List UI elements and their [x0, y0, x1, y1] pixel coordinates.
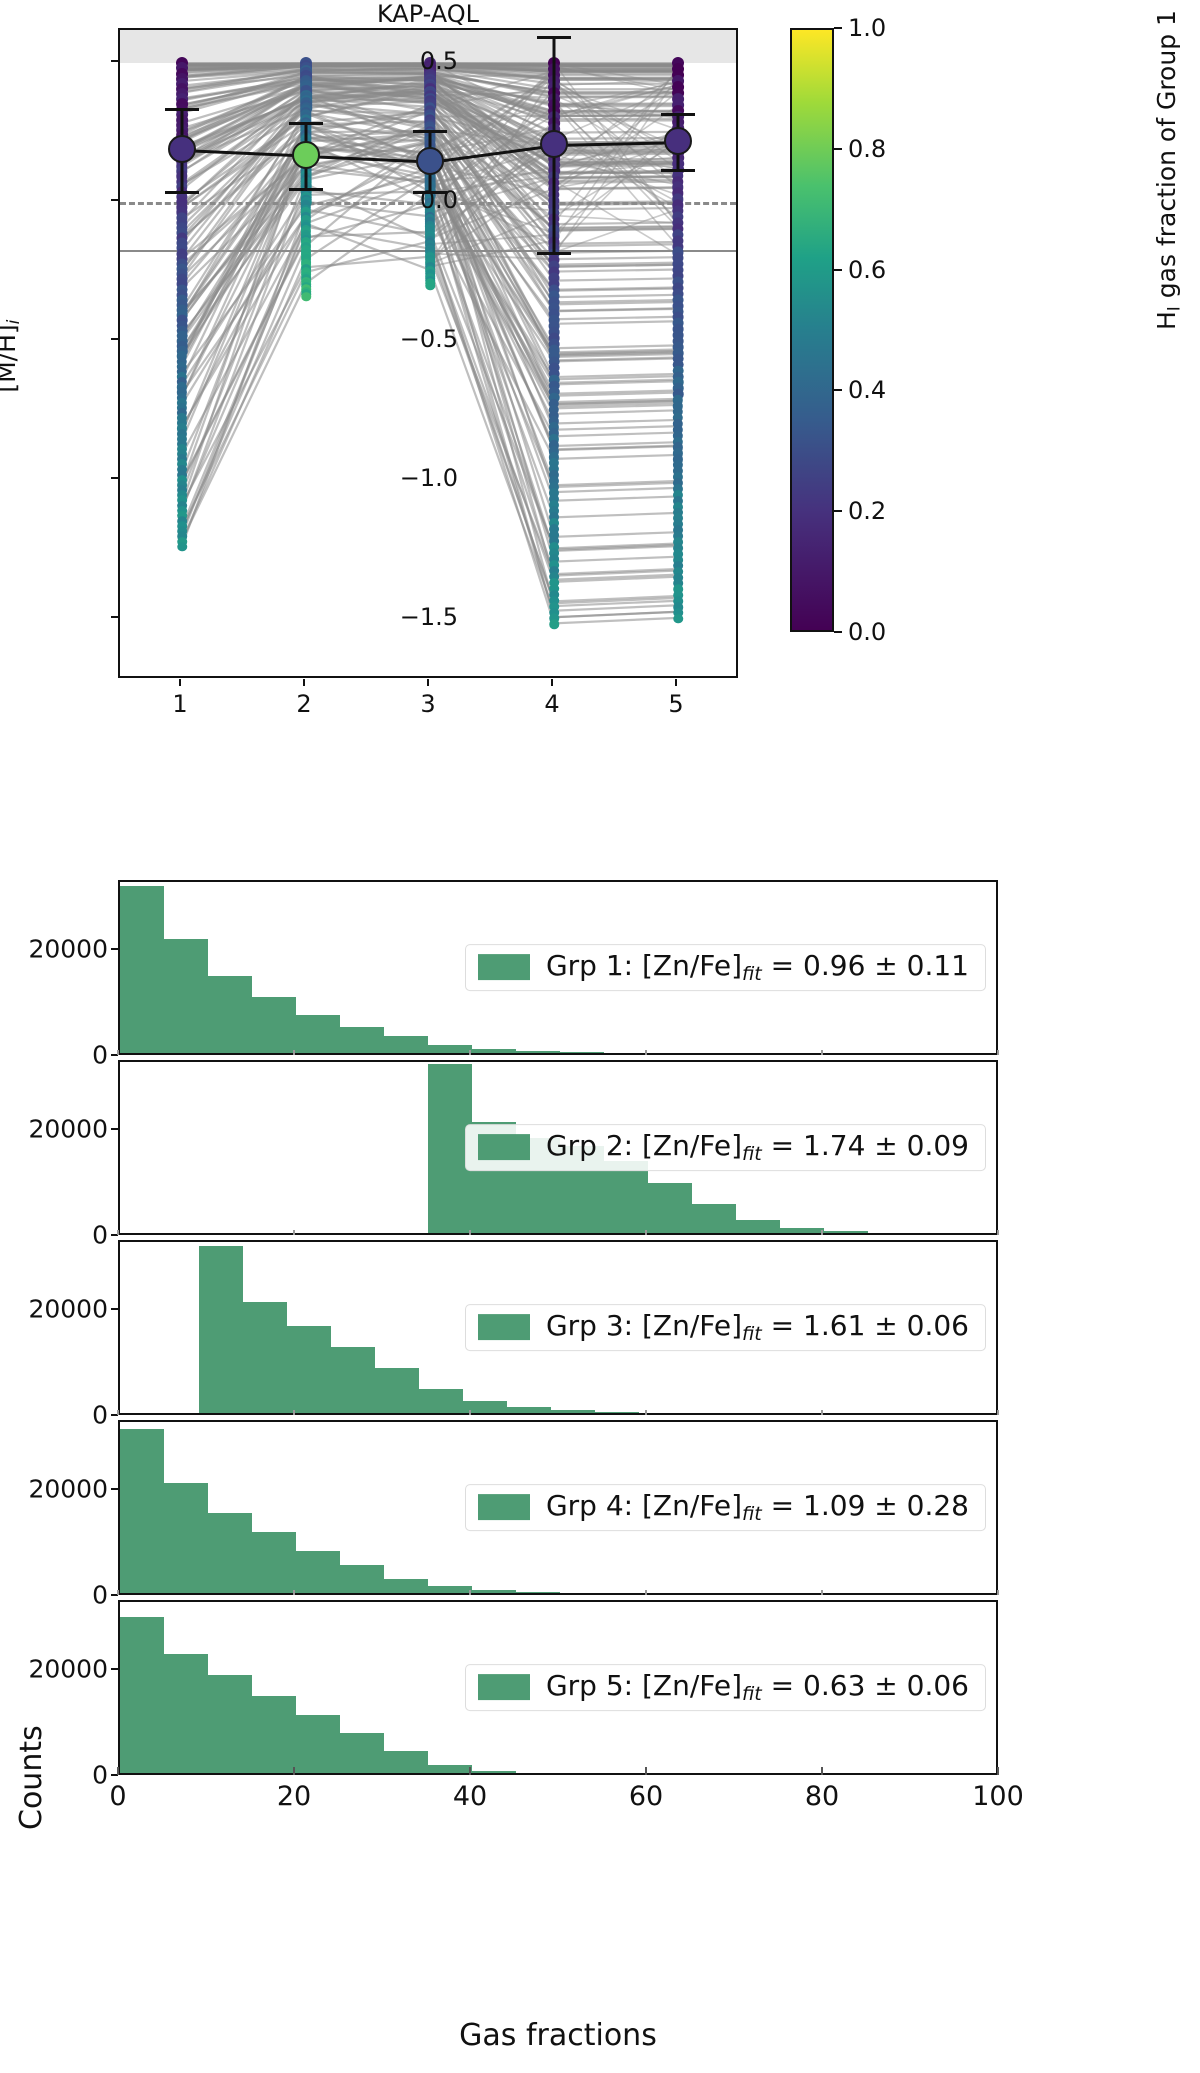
histogram-x-tick-mark — [293, 1410, 295, 1415]
legend-label-text: Grp 4: [Zn/Fe]fit = 1.09 ± 0.28 — [546, 1492, 969, 1524]
histogram-bar — [516, 1592, 560, 1593]
histogram-bar — [384, 1751, 428, 1773]
x-tick-label: 5 — [668, 690, 683, 718]
histogram-x-tick-mark — [645, 1590, 647, 1595]
histogram-bar — [419, 1389, 463, 1413]
histogram-x-tick-mark — [821, 1590, 823, 1595]
histogram-bar — [780, 1228, 824, 1233]
histogram-bar — [164, 1483, 208, 1593]
mean-trend-line — [306, 155, 430, 164]
error-cap-lower — [661, 169, 695, 172]
x-axis-label-gas-fractions: Gas fractions — [118, 2018, 998, 2053]
histogram-bar — [384, 1036, 428, 1053]
histogram-x-tick-mark — [293, 1590, 295, 1595]
histogram-x-tick-mark — [117, 1050, 119, 1055]
histogram-bar — [296, 1015, 340, 1053]
legend-subscript: fit — [742, 1142, 762, 1164]
colorbar-label: HI gas fraction of Group 1 — [1152, 10, 1184, 330]
colorbar-tick-mark — [834, 510, 842, 512]
histogram-y-tick-label: 0 — [92, 1761, 108, 1790]
histogram-bar — [252, 997, 296, 1053]
y-tick-mark — [111, 199, 118, 201]
histogram-bar — [208, 1513, 252, 1593]
histogram-y-tick-label: 20000 — [28, 1294, 108, 1323]
histogram-y-tick-label: 0 — [92, 1041, 108, 1070]
legend-prefix: Grp 2: [Zn/Fe] — [546, 1129, 742, 1162]
mean-trend-line — [182, 149, 306, 158]
histogram-bar — [208, 976, 252, 1053]
histogram-legend-4: Grp 4: [Zn/Fe]fit = 1.09 ± 0.28 — [465, 1484, 986, 1532]
histogram-bar — [120, 1429, 164, 1593]
histogram-x-tick-mark — [997, 1050, 999, 1055]
histogram-legend-1: Grp 1: [Zn/Fe]fit = 0.96 ± 0.11 — [465, 944, 986, 992]
legend-label-text: Grp 3: [Zn/Fe]fit = 1.61 ± 0.06 — [546, 1312, 969, 1344]
histogram-x-tick-mark — [821, 1230, 823, 1235]
legend-color-swatch — [478, 1494, 530, 1520]
histogram-x-tick-mark — [469, 1410, 471, 1415]
ylabel-subscript: i — [4, 320, 24, 325]
y-axis-label-metallicity: [M/H]i — [0, 320, 24, 393]
histogram-x-tick-mark — [293, 1050, 295, 1055]
histogram-y-tick-label: 20000 — [28, 1654, 108, 1683]
histogram-bar — [516, 1051, 560, 1053]
x-tick-mark — [303, 679, 305, 686]
colorbar-gradient — [790, 28, 834, 632]
y-axis-label-counts: Counts — [14, 1725, 49, 1830]
legend-subscript: fit — [742, 962, 762, 984]
histogram-x-tick-label: 60 — [629, 1781, 663, 1812]
histogram-bar — [296, 1715, 340, 1773]
histogram-bar — [340, 1027, 384, 1054]
histogram-bar — [252, 1532, 296, 1593]
histogram-x-tick-mark — [821, 1767, 823, 1775]
colorbar-tick-label: 0.6 — [848, 256, 886, 284]
x-tick-label: 3 — [420, 690, 435, 718]
colorbar-tick-mark — [834, 148, 842, 150]
histogram-panel-3: 020000Grp 3: [Zn/Fe]fit = 1.61 ± 0.06 — [118, 1240, 998, 1415]
histogram-bar — [340, 1733, 384, 1773]
y-tick-label: −1.0 — [400, 464, 458, 492]
group-mean-marker — [416, 147, 444, 175]
histogram-y-tick-mark — [111, 1128, 118, 1130]
histogram-panel-2: 020000Grp 2: [Zn/Fe]fit = 1.74 ± 0.09 — [118, 1060, 998, 1235]
y-tick-mark — [111, 338, 118, 340]
histogram-bar — [736, 1220, 780, 1233]
histogram-x-tick-mark — [997, 1767, 999, 1775]
histogram-panel-4: 020000Grp 4: [Zn/Fe]fit = 1.09 ± 0.28 — [118, 1420, 998, 1595]
histogram-y-tick-label: 0 — [92, 1221, 108, 1250]
legend-prefix: Grp 3: [Zn/Fe] — [546, 1309, 742, 1342]
histogram-bar — [551, 1410, 595, 1413]
histogram-x-tick-label: 0 — [109, 1781, 126, 1812]
histogram-x-tick-mark — [293, 1767, 295, 1775]
x-tick-label: 2 — [296, 690, 311, 718]
histogram-bar — [604, 1161, 648, 1233]
histogram-bar — [252, 1696, 296, 1773]
histogram-x-tick-mark — [997, 1590, 999, 1595]
histogram-y-tick-mark — [111, 948, 118, 950]
histogram-bar — [164, 1654, 208, 1773]
error-cap-upper — [289, 122, 323, 125]
histogram-legend-2: Grp 2: [Zn/Fe]fit = 1.74 ± 0.09 — [465, 1124, 986, 1172]
legend-label-text: Grp 5: [Zn/Fe]fit = 0.63 ± 0.06 — [546, 1672, 969, 1704]
x-tick-mark — [427, 679, 429, 686]
data-point — [177, 542, 187, 552]
histogram-x-tick-mark — [645, 1767, 647, 1775]
error-cap-lower — [165, 191, 199, 194]
group-mean-marker — [292, 141, 320, 169]
histogram-x-tick-mark — [117, 1230, 119, 1235]
x-tick-mark — [551, 679, 553, 686]
histogram-bar — [595, 1412, 639, 1413]
histogram-bar — [824, 1231, 868, 1233]
histogram-x-tick-mark — [821, 1410, 823, 1415]
histogram-y-tick-label: 20000 — [28, 934, 108, 963]
y-tick-label: −0.5 — [400, 325, 458, 353]
data-point — [549, 620, 559, 630]
y-tick-label: 0.5 — [420, 47, 458, 75]
histogram-y-tick-label: 0 — [92, 1401, 108, 1430]
y-tick-mark — [111, 60, 118, 62]
histogram-y-tick-label: 20000 — [28, 1114, 108, 1143]
histogram-x-tick-mark — [997, 1410, 999, 1415]
legend-subscript: fit — [742, 1322, 762, 1344]
colorbar-label-rest: gas fraction of Group 1 — [1152, 10, 1181, 306]
colorbar-tick-mark — [834, 27, 842, 29]
histogram-x-tick-mark — [469, 1050, 471, 1055]
histogram-bar — [208, 1675, 252, 1773]
y-tick-label: −1.5 — [400, 603, 458, 631]
colorbar-tick-label: 0.2 — [848, 497, 886, 525]
colorbar-tick-mark — [834, 269, 842, 271]
histogram-bar — [472, 1590, 516, 1593]
y-tick-mark — [111, 616, 118, 618]
histogram-x-tick-mark — [645, 1410, 647, 1415]
legend-color-swatch — [478, 954, 530, 980]
histogram-bar — [560, 1052, 604, 1053]
colorbar-tick-label: 0.8 — [848, 135, 886, 163]
error-cap-upper — [661, 113, 695, 116]
legend-value: = 1.61 ± 0.06 — [762, 1309, 969, 1342]
histogram-bar — [472, 1771, 516, 1773]
legend-label-text: Grp 2: [Zn/Fe]fit = 1.74 ± 0.09 — [546, 1132, 969, 1164]
legend-subscript: fit — [742, 1682, 762, 1704]
ylabel-text: [M/H] — [0, 324, 21, 392]
error-cap-lower — [537, 252, 571, 255]
histogram-x-tick-label: 20 — [277, 1781, 311, 1812]
histogram-bar — [428, 1765, 472, 1773]
legend-value: = 1.09 ± 0.28 — [762, 1489, 969, 1522]
legend-subscript: fit — [742, 1502, 762, 1524]
histogram-x-tick-label: 100 — [972, 1781, 1024, 1812]
histogram-y-tick-mark — [111, 1308, 118, 1310]
histogram-x-tick-mark — [117, 1767, 119, 1775]
histogram-bar — [287, 1326, 331, 1414]
legend-prefix: Grp 1: [Zn/Fe] — [546, 949, 742, 982]
histogram-bar — [120, 1617, 164, 1773]
mean-trend-line — [430, 144, 554, 164]
histogram-x-tick-mark — [997, 1230, 999, 1235]
histogram-bar — [243, 1302, 287, 1413]
legend-color-swatch — [478, 1674, 530, 1700]
histogram-bar — [340, 1565, 384, 1593]
histogram-y-tick-mark — [111, 1488, 118, 1490]
histogram-x-tick-mark — [117, 1410, 119, 1415]
histogram-panel-1: 020000Grp 1: [Zn/Fe]fit = 0.96 ± 0.11 — [118, 880, 998, 1055]
histogram-bar — [296, 1551, 340, 1593]
legend-value: = 1.74 ± 0.09 — [762, 1129, 969, 1162]
y-tick-mark — [111, 477, 118, 479]
colorbar-label-subscript: I — [1164, 306, 1184, 311]
error-cap-upper — [413, 130, 447, 133]
colorbar-tick-label: 0.0 — [848, 618, 886, 646]
colorbar-tick-label: 0.4 — [848, 376, 886, 404]
error-cap-lower — [289, 188, 323, 191]
group-mean-marker — [168, 135, 196, 163]
data-point — [301, 292, 311, 302]
colorbar-label-prefix: H — [1152, 311, 1181, 330]
histogram-x-tick-mark — [469, 1590, 471, 1595]
histogram-x-tick-label: 40 — [453, 1781, 487, 1812]
histogram-x-tick-mark — [117, 1590, 119, 1595]
histogram-legend-5: Grp 5: [Zn/Fe]fit = 0.63 ± 0.06 — [465, 1664, 986, 1712]
colorbar: 0.00.20.40.60.81.0 — [790, 28, 834, 632]
histogram-y-tick-mark — [111, 1668, 118, 1670]
histogram-y-tick-label: 20000 — [28, 1474, 108, 1503]
histogram-x-tick-mark — [645, 1050, 647, 1055]
histogram-bar — [384, 1579, 428, 1593]
legend-value: = 0.96 ± 0.11 — [762, 949, 969, 982]
histogram-x-tick-label: 80 — [805, 1781, 839, 1812]
histogram-y-tick-label: 0 — [92, 1581, 108, 1610]
group-mean-marker — [540, 130, 568, 158]
histogram-bar — [428, 1045, 472, 1053]
x-tick-mark — [179, 679, 181, 686]
colorbar-tick-label: 1.0 — [848, 14, 886, 42]
histogram-bar — [331, 1347, 375, 1413]
legend-color-swatch — [478, 1134, 530, 1160]
y-tick-label: 0.0 — [420, 186, 458, 214]
legend-label-text: Grp 1: [Zn/Fe]fit = 0.96 ± 0.11 — [546, 952, 969, 984]
histogram-x-tick-mark — [293, 1230, 295, 1235]
histogram-x-tick-mark — [469, 1767, 471, 1775]
histogram-bar — [692, 1204, 736, 1233]
histogram-bar — [648, 1183, 692, 1233]
histogram-bar — [120, 886, 164, 1053]
data-point — [673, 614, 683, 624]
histogram-x-tick-mark — [645, 1230, 647, 1235]
page-title: KAP-AQL — [118, 0, 738, 28]
x-tick-mark — [675, 679, 677, 686]
data-point — [425, 281, 435, 291]
group-mean-marker — [664, 127, 692, 155]
colorbar-tick-mark — [834, 389, 842, 391]
legend-prefix: Grp 4: [Zn/Fe] — [546, 1489, 742, 1522]
histogram-legend-3: Grp 3: [Zn/Fe]fit = 1.61 ± 0.06 — [465, 1304, 986, 1352]
colorbar-tick-mark — [834, 631, 842, 633]
histogram-bar — [428, 1586, 472, 1593]
mean-trend-line — [554, 141, 678, 147]
histogram-x-tick-mark — [469, 1230, 471, 1235]
error-cap-upper — [537, 36, 571, 39]
histogram-panel-5: 020000020406080100Grp 5: [Zn/Fe]fit = 0.… — [118, 1600, 998, 1775]
histogram-bar — [507, 1407, 551, 1413]
error-cap-upper — [165, 108, 199, 111]
legend-prefix: Grp 5: [Zn/Fe] — [546, 1669, 742, 1702]
histogram-bar — [164, 939, 208, 1053]
figure-root: KAP-AQL 12345 [M/H]i 0.00.20.40.60.81.0 … — [0, 0, 1200, 2073]
histogram-x-tick-mark — [821, 1050, 823, 1055]
x-tick-label: 4 — [544, 690, 559, 718]
x-tick-label: 1 — [172, 690, 187, 718]
legend-value: = 0.63 ± 0.06 — [762, 1669, 969, 1702]
histogram-bar — [199, 1246, 243, 1413]
legend-color-swatch — [478, 1314, 530, 1340]
histogram-bar — [472, 1049, 516, 1053]
histogram-bar — [375, 1368, 419, 1413]
